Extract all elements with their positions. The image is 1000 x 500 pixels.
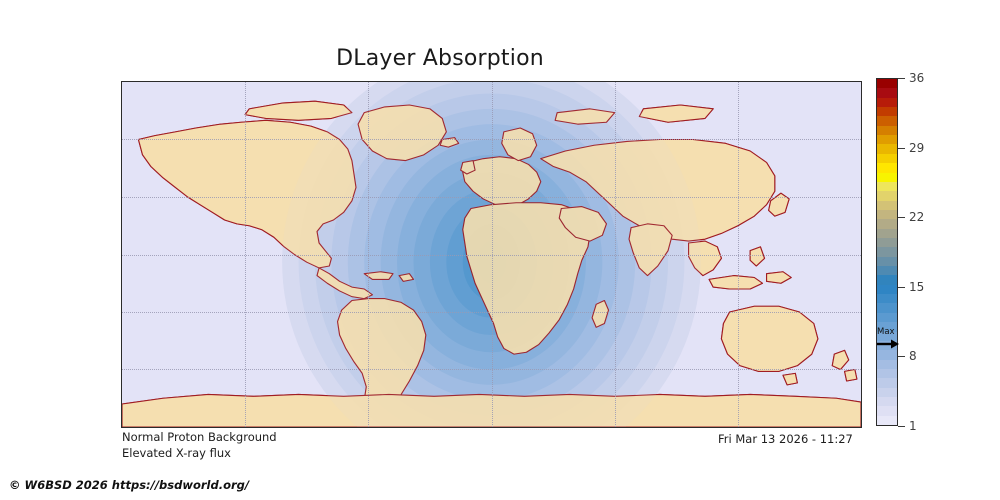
colorbar-segment: [877, 228, 897, 238]
colorbar-segment: [877, 125, 897, 135]
colorbar-segment: [877, 78, 897, 88]
colorbar-segment: [877, 405, 897, 415]
colorbar-segment: [877, 200, 897, 210]
colorbar-segment: [877, 359, 897, 369]
copyright-notice: © W6BSD 2026 https://bsdworld.org/: [9, 478, 249, 492]
colorbar-tick-mark: [898, 78, 905, 79]
colorbar-segment: [877, 312, 897, 322]
colorbar-segment: [877, 181, 897, 191]
colorbar-segment: [877, 293, 897, 303]
colorbar-segment: [877, 377, 897, 387]
colorbar-segment: [877, 106, 897, 116]
colorbar-axis-label: Affected Frequency (MHz): [917, 78, 1000, 426]
colorbar-tick-mark: [898, 287, 905, 288]
colorbar-segment: [877, 144, 897, 154]
colorbar-segment: [877, 284, 897, 294]
coastline-overlay: [122, 82, 861, 427]
colorbar-segment: [877, 97, 897, 107]
colorbar-tick-mark: [898, 426, 905, 427]
colorbar-segment: [877, 321, 897, 331]
colorbar-segment: [877, 134, 897, 144]
colorbar-segment: [877, 340, 897, 350]
colorbar-segment: [877, 153, 897, 163]
colorbar-tick-mark: [898, 148, 905, 149]
colorbar-segment: [877, 256, 897, 266]
colorbar-segment: [877, 246, 897, 256]
timestamp: Fri Mar 13 2026 - 11:27: [718, 432, 853, 446]
page-title: DLayer Absorption: [0, 46, 880, 71]
colorbar-segment: [877, 209, 897, 219]
colorbar-tick-mark: [898, 356, 905, 357]
status-proton: Normal Proton Background: [122, 430, 277, 444]
colorbar-segment: [877, 275, 897, 285]
colorbar-segment: [877, 190, 897, 200]
colorbar-segment: [877, 237, 897, 247]
colorbar-tick-label: 8: [909, 349, 917, 363]
colorbar-segment: [877, 88, 897, 98]
colorbar-segment: [877, 415, 897, 425]
map-axes[interactable]: [121, 81, 862, 428]
colorbar-segment: [877, 265, 897, 275]
colorbar-tick-label: 1: [909, 419, 917, 433]
colorbar-segment: [877, 387, 897, 397]
colorbar-segment: [877, 368, 897, 378]
colorbar-tick-mark: [898, 217, 905, 218]
colorbar-segment: [877, 172, 897, 182]
colorbar-segment: [877, 162, 897, 172]
colorbar-segment: [877, 396, 897, 406]
colorbar-segment: [877, 349, 897, 359]
status-xray: Elevated X-ray flux: [122, 446, 231, 460]
figure-canvas: DLayer Absorption: [0, 0, 1000, 500]
colorbar-segment: [877, 116, 897, 126]
colorbar-segment: [877, 303, 897, 313]
colorbar[interactable]: [876, 78, 898, 426]
colorbar-segment: [877, 218, 897, 228]
colorbar-segment: [877, 331, 897, 341]
